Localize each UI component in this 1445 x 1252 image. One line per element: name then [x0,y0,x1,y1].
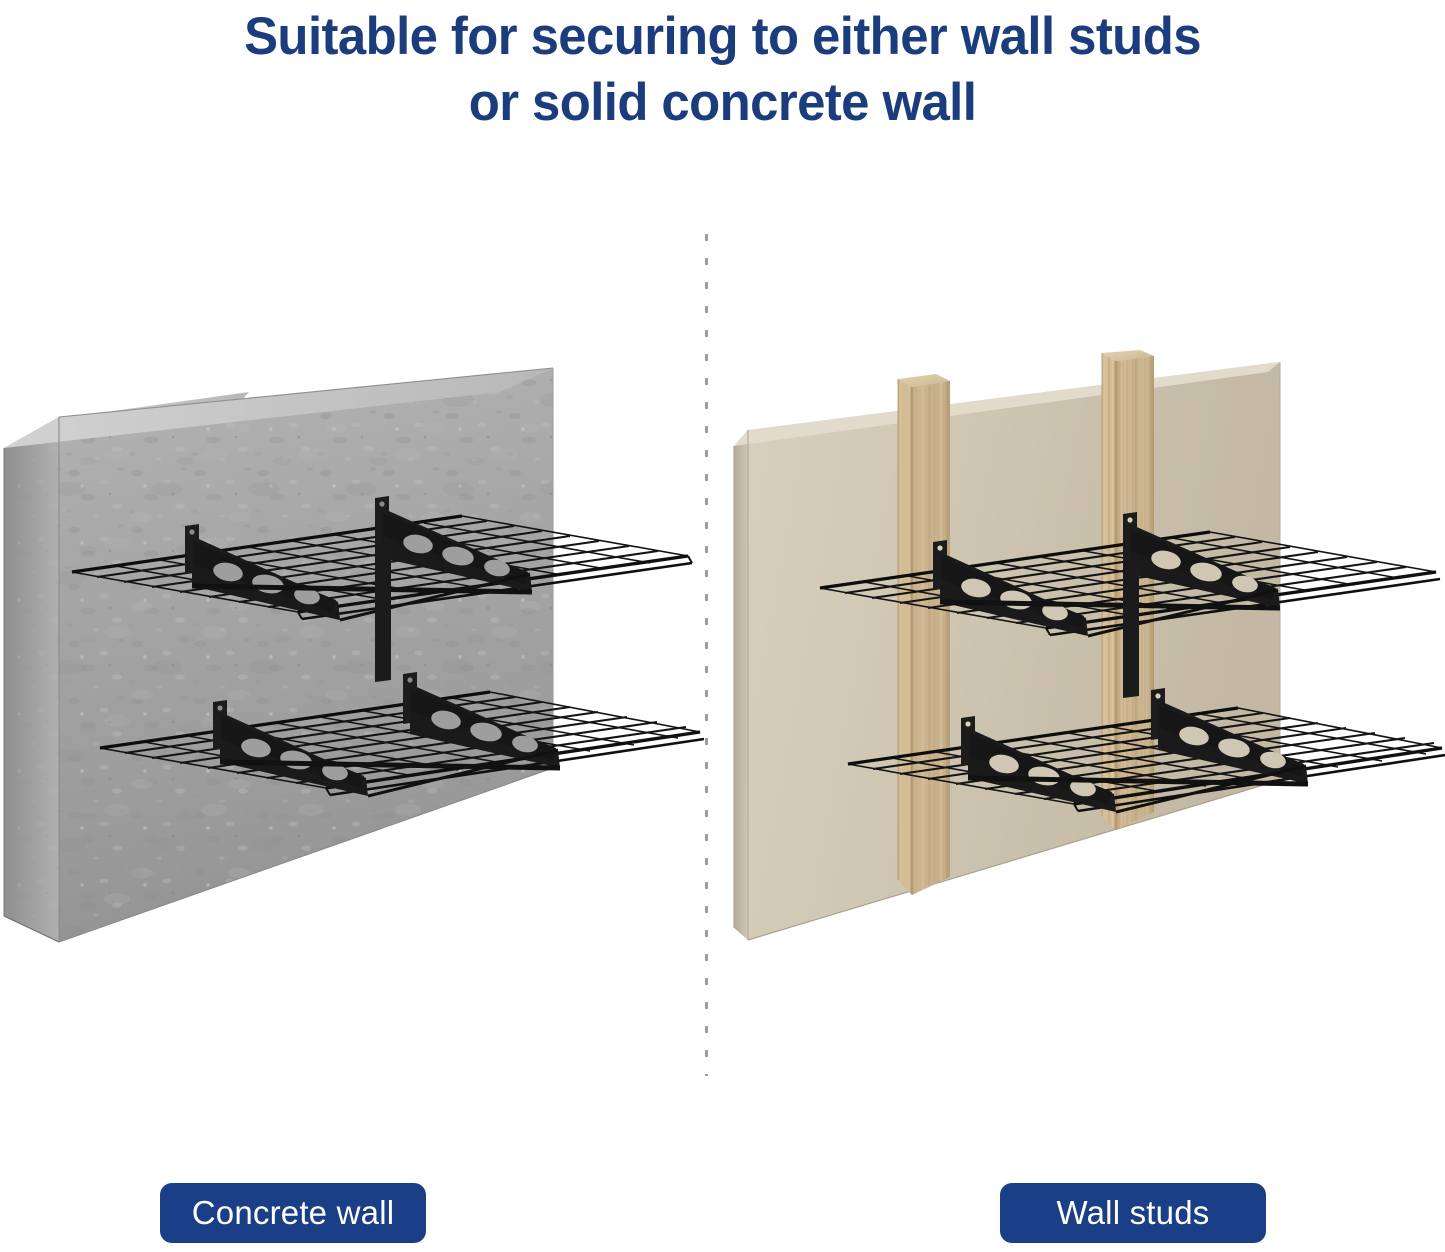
caption-wall-studs: Wall studs [1000,1183,1266,1243]
wall-studs-panel [720,350,1445,1010]
headline-line-1: Suitable for securing to either wall stu… [244,7,1201,66]
drywall-panel [734,362,1280,940]
headline-line-2: or solid concrete wall [29,70,1416,136]
page-title: Suitable for securing to either wall stu… [29,4,1416,136]
wood-stud-left [898,374,950,895]
shelf-vertical-post [1123,560,1139,698]
caption-concrete-wall: Concrete wall [160,1183,426,1243]
shelf-vertical-post [375,544,391,682]
caption-label: Wall studs [1057,1194,1210,1232]
concrete-slab [4,368,553,944]
panel-divider [705,234,708,1076]
caption-label: Concrete wall [192,1194,395,1232]
concrete-wall-panel [0,350,705,1010]
infographic-page: Suitable for securing to either wall stu… [0,0,1445,1252]
